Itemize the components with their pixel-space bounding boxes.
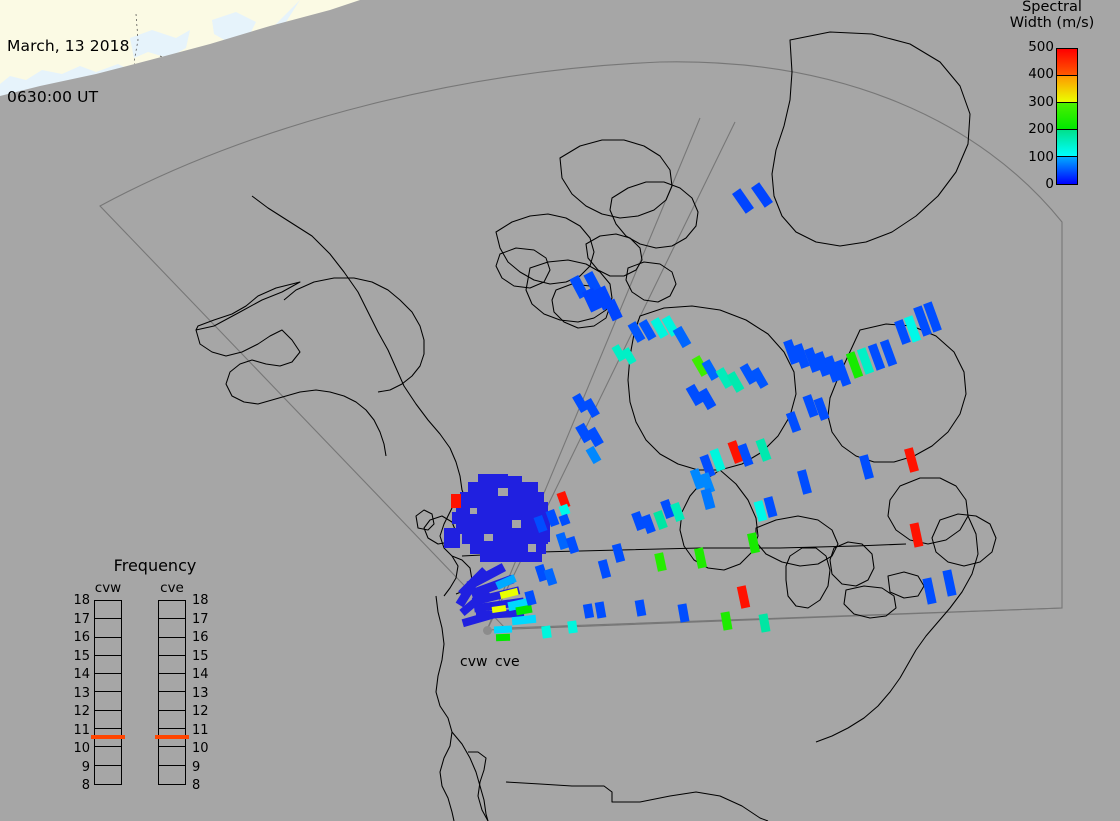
frequency-cell — [159, 747, 185, 765]
radar-echo-cell — [559, 514, 571, 526]
frequency-cell — [95, 601, 121, 619]
frequency-cell — [159, 692, 185, 710]
radar-echo-cell — [678, 603, 690, 622]
frequency-legend: Frequency cvw cve 1818171716161515141413… — [80, 556, 230, 796]
frequency-tick-label: 15 — [192, 650, 214, 663]
coast-lake-erie — [844, 586, 896, 618]
radar-echo-cell — [904, 447, 919, 473]
coast-devon-island — [610, 182, 698, 248]
coast-lake-huron — [830, 542, 874, 586]
frequency-tick-label: 16 — [68, 631, 90, 644]
frequency-tick-label: 16 — [192, 631, 214, 644]
frequency-tick-label: 9 — [68, 761, 90, 774]
frequency-tick-label: 11 — [192, 724, 214, 737]
colorbar-title-line2: Width (m/s) — [988, 16, 1116, 32]
frequency-cell — [159, 766, 185, 784]
frequency-cell — [159, 619, 185, 637]
frequency-marker-cvw — [91, 735, 125, 739]
colorbar-tick-label: 500 — [1016, 41, 1054, 55]
radar-echo-cell — [759, 613, 771, 632]
coast-baja — [452, 732, 488, 821]
colorbar-segment — [1057, 130, 1077, 157]
radar-echo-cell — [732, 188, 754, 213]
frequency-tick-label: 15 — [68, 650, 90, 663]
frequency-tick-label: 14 — [192, 668, 214, 681]
frequency-cell — [95, 766, 121, 784]
frequency-legend-title: Frequency — [80, 556, 230, 575]
frequency-column-label-cvw: cvw — [88, 580, 128, 596]
radar-echo-cell — [544, 568, 558, 586]
radar-echo-cell — [567, 620, 578, 633]
colorbar-tick-label: 300 — [1016, 96, 1054, 110]
frequency-cell — [95, 692, 121, 710]
frequency-cell — [95, 747, 121, 765]
radar-echo-cell — [797, 469, 812, 495]
colorbar-title: Spectral Width (m/s) — [988, 0, 1116, 31]
colorbar-segment — [1057, 49, 1077, 76]
frequency-cell — [95, 656, 121, 674]
radar-echo-cell — [859, 454, 874, 480]
colorbar-tick-label: 400 — [1016, 68, 1054, 82]
frequency-tick-label: 12 — [192, 705, 214, 718]
coast-james-bay — [680, 470, 758, 570]
frequency-cell — [95, 638, 121, 656]
colorbar-segment — [1057, 76, 1077, 103]
radar-echo-cell — [786, 411, 801, 433]
coast-great-bear — [196, 330, 386, 456]
radar-echo-cell — [694, 547, 707, 568]
coast-ellesmere — [560, 140, 672, 218]
frequency-cell — [159, 638, 185, 656]
coastlines — [196, 32, 996, 821]
frequency-cell — [95, 674, 121, 692]
frequency-tick-label: 13 — [192, 687, 214, 700]
frequency-tick-label: 14 — [68, 668, 90, 681]
radar-echo-cell — [598, 559, 611, 579]
frequency-tick-label: 10 — [192, 742, 214, 755]
frequency-tick-label: 9 — [192, 761, 214, 774]
frequency-bar-cve — [158, 600, 186, 785]
radar-echo-cell — [586, 446, 602, 464]
frequency-tick-label: 12 — [68, 705, 90, 718]
colorbar-tick-label: 0 — [1016, 178, 1054, 192]
coast-lake-superior — [756, 516, 838, 566]
radar-echo-cell — [583, 603, 594, 618]
coast-labrador — [828, 324, 966, 462]
colorbar-gradient — [1056, 48, 1078, 185]
frequency-tick-label: 13 — [68, 687, 90, 700]
timestamp-time: 0630:00 UT — [7, 89, 130, 106]
frequency-tick-label: 8 — [68, 779, 90, 792]
colorbar-tick-label: 200 — [1016, 123, 1054, 137]
radar-echo-cell — [751, 182, 773, 207]
radar-echo-cell — [654, 552, 667, 571]
coast-bathurst — [626, 262, 676, 302]
coast-us-east — [816, 516, 978, 742]
coast-mackenzie-west — [252, 196, 466, 500]
colorbar-title-line1: Spectral — [988, 0, 1116, 16]
radar-echo-cell — [451, 494, 461, 508]
frequency-tick-label: 18 — [192, 594, 214, 607]
frequency-cell — [159, 656, 185, 674]
radar-echo-cell — [756, 438, 772, 462]
frequency-column-label-cve: cve — [152, 580, 192, 596]
frequency-tick-label: 11 — [68, 724, 90, 737]
coast-lake-ontario — [888, 572, 924, 598]
radar-echo-cell — [922, 577, 936, 604]
radar-echo-cell — [541, 625, 552, 638]
colorbar-tick-label: 100 — [1016, 151, 1054, 165]
timestamp: March, 13 2018 0630:00 UT — [7, 4, 130, 140]
radar-site-marker — [483, 626, 492, 635]
coast-newfoundland — [888, 478, 968, 544]
frequency-tick-label: 18 — [68, 594, 90, 607]
radar-label-cvw: cvw — [460, 654, 487, 670]
radar-echo-cell — [595, 601, 607, 618]
coast-gulf-st-lawrence — [932, 514, 996, 566]
radar-echo-cell — [612, 543, 625, 563]
coast-beaufort — [284, 278, 424, 392]
radar-echo-cell — [721, 611, 733, 630]
frequency-marker-cve — [155, 735, 189, 739]
coast-us-west — [436, 596, 454, 821]
frequency-tick-label: 17 — [68, 613, 90, 626]
coast-victoria-island — [496, 214, 594, 284]
frequency-tick-label: 8 — [192, 779, 214, 792]
radar-echo-cell — [635, 599, 647, 616]
frequency-cell — [159, 674, 185, 692]
radar-echo-cell — [737, 585, 750, 608]
radar-label-cve: cve — [495, 654, 520, 670]
frequency-cell — [95, 619, 121, 637]
frequency-tick-label: 10 — [68, 742, 90, 755]
superdarn-map-view: March, 13 2018 0630:00 UT — [0, 0, 1120, 821]
colorbar-segment — [1057, 103, 1077, 130]
radar-echo-cell — [942, 569, 956, 596]
border-us-mexico — [506, 782, 768, 821]
colorbar-segment — [1057, 157, 1077, 184]
frequency-cell — [159, 711, 185, 729]
radar-echo-cell — [910, 522, 924, 547]
radar-echo-cells — [451, 182, 957, 638]
frequency-bar-cvw — [94, 600, 122, 785]
frequency-cell — [95, 711, 121, 729]
timestamp-date: March, 13 2018 — [7, 38, 130, 55]
frequency-tick-label: 17 — [192, 613, 214, 626]
coast-hudson-bay — [628, 306, 796, 470]
frequency-cell — [159, 601, 185, 619]
coast-greenland — [772, 32, 970, 246]
spectral-width-colorbar: Spectral Width (m/s) 5004003002001000 — [988, 0, 1116, 210]
coast-lake-michigan — [786, 548, 830, 608]
